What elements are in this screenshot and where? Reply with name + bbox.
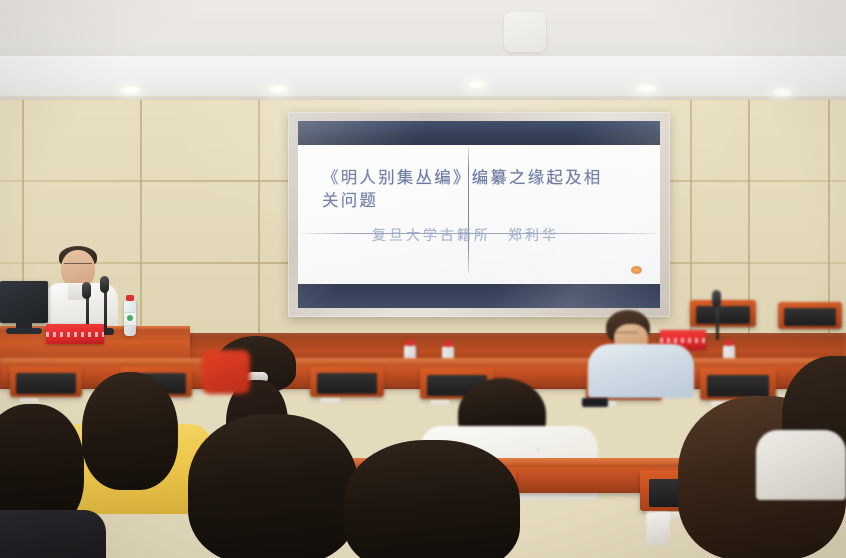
chair-pad: [707, 375, 769, 397]
bottle-cap: [126, 295, 134, 301]
projection-screen-frame: 《明人别集丛编》编纂之缘起及相 关问题 复旦大学古籍所 郑利华: [288, 112, 670, 317]
glasses-icon: [612, 332, 638, 337]
downlight-2: [268, 85, 289, 94]
ceiling-speaker-panel-icon: [504, 12, 546, 52]
slide-title: 《明人别集丛编》编纂之缘起及相 关问题: [322, 166, 642, 213]
lecture-hall-photo: 《明人别集丛编》编纂之缘起及相 关问题 复旦大学古籍所 郑利华: [0, 0, 846, 558]
screen-band-bottom: [298, 284, 660, 308]
projection-screen: 《明人别集丛编》编纂之缘起及相 关问题 复旦大学古籍所 郑利华: [298, 121, 660, 308]
glasses-icon: [64, 263, 92, 270]
presenter-bottle: [124, 300, 136, 336]
downlight-1: [120, 86, 141, 95]
person-torso: [588, 344, 694, 398]
seat-number-label: [20, 398, 39, 404]
slide-accent-dot-icon: [631, 266, 642, 274]
chair-pad: [784, 308, 836, 326]
ceiling: [0, 0, 846, 62]
screen-band-top: [298, 121, 660, 145]
chair-pad: [317, 373, 378, 394]
person-hair: [344, 440, 520, 558]
person-torso: [756, 430, 846, 500]
monitor-base: [6, 328, 42, 334]
presenter-mic-head-2: [100, 276, 109, 293]
presenter-mic-head-1: [82, 282, 91, 299]
monitor-screen: [0, 281, 48, 323]
person-student-center-front: [336, 440, 526, 558]
chair-pad: [696, 306, 750, 324]
head-table-mic-head: [712, 290, 721, 307]
nameplate-text: [46, 332, 104, 337]
presenter-mic-stem-2: [104, 288, 107, 332]
bottle-logo-icon: [127, 315, 133, 321]
paper-cup: [646, 512, 670, 546]
bottle-cap: [406, 340, 414, 346]
person-student-white-partial: [756, 430, 846, 500]
slide-canvas: 《明人别集丛编》编纂之缘起及相 关问题 复旦大学古籍所 郑利华: [298, 145, 660, 284]
person-hair: [188, 414, 358, 558]
downlight-5: [772, 88, 793, 97]
slide-subtitle: 复旦大学古籍所 郑利华: [372, 225, 559, 245]
seat-number-label: [320, 398, 339, 404]
bottle-cap: [444, 341, 452, 347]
person-student-black-top-1: [0, 404, 102, 558]
downlight-4: [636, 84, 657, 93]
head-table-chair-2: [778, 302, 842, 344]
phone-on-desk: [582, 398, 608, 407]
wall-seam-v3: [258, 100, 260, 355]
red-bag: [202, 350, 250, 394]
wall-seam-v2: [140, 100, 142, 355]
seat-back-3: [310, 366, 384, 414]
bottle-cap: [725, 340, 733, 346]
person-student-white-stripe: [584, 310, 694, 396]
person-torso: [0, 510, 106, 558]
presenter-nameplate: [46, 324, 104, 344]
downlight-3: [466, 80, 487, 89]
